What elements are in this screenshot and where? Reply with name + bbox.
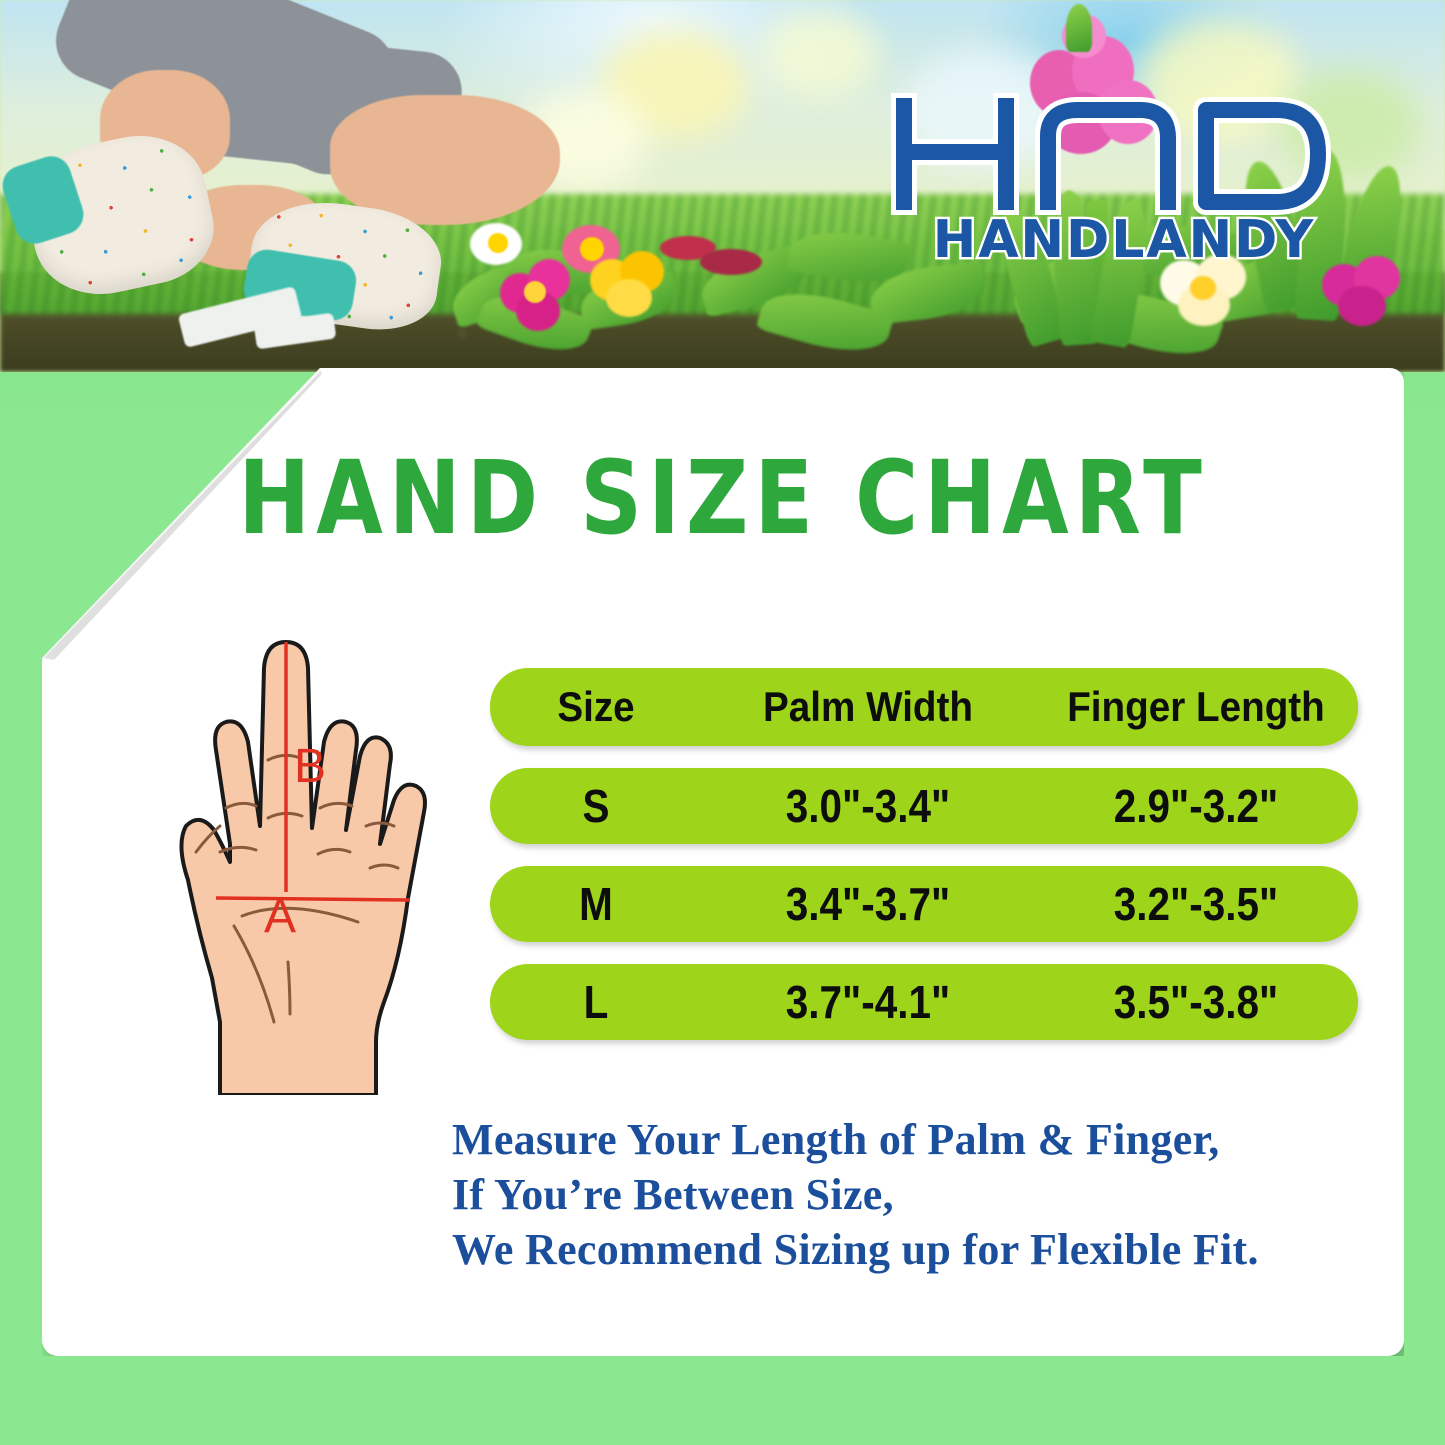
label-b: B (294, 740, 326, 793)
hand-measurement-diagram: B A (108, 630, 488, 1095)
cell-size: S (503, 779, 690, 833)
size-chart-page: HANDLANDY HANDLANDY HAND SIZE CHART (0, 0, 1445, 1445)
table-row: L 3.7"-4.1" 3.5"-3.8" (490, 964, 1358, 1040)
column-header-palm-width: Palm Width (715, 683, 1020, 731)
gardening-photo-banner: HANDLANDY HANDLANDY (0, 0, 1445, 372)
cell-size: M (503, 877, 690, 931)
palm-width-line (216, 898, 410, 900)
cell-finger-length: 3.2"-3.5" (1053, 877, 1338, 931)
hld-monogram-icon (888, 92, 1358, 222)
size-table: Size Palm Width Finger Length S 3.0"-3.4… (490, 668, 1358, 1062)
column-header-size: Size (498, 683, 693, 731)
logo-wordmark: HANDLANDY (890, 210, 1358, 270)
page-title: HAND SIZE CHART (42, 440, 1404, 558)
table-header-row: Size Palm Width Finger Length (490, 668, 1358, 746)
cell-finger-length: 3.5"-3.8" (1053, 975, 1338, 1029)
daisy-flower (470, 215, 526, 271)
forearm-skin (330, 95, 560, 225)
cell-finger-length: 2.9"-3.2" (1053, 779, 1338, 833)
sizing-note-line-3: We Recommend Sizing up for Flexible Fit. (452, 1222, 1352, 1277)
hyacinth-tip-leaf (1066, 4, 1092, 52)
column-header-finger-length: Finger Length (1047, 683, 1345, 731)
cell-palm-width: 3.7"-4.1" (722, 975, 1014, 1029)
cell-size: L (503, 975, 690, 1029)
sizing-note: Measure Your Length of Palm & Finger, If… (452, 1112, 1352, 1277)
red-daisy-flower (700, 245, 766, 285)
table-row: S 3.0"-3.4" 2.9"-3.2" (490, 768, 1358, 844)
sizing-note-line-1: Measure Your Length of Palm & Finger, (452, 1112, 1352, 1167)
cell-palm-width: 3.0"-3.4" (722, 779, 1014, 833)
label-a: A (264, 890, 296, 943)
hand-palm-icon: B A (108, 630, 488, 1095)
yellow-primrose-flower (590, 245, 668, 317)
handlandy-logo: HANDLANDY HANDLANDY (888, 92, 1358, 292)
table-row: M 3.4"-3.7" 3.2"-3.5" (490, 866, 1358, 942)
cell-palm-width: 3.4"-3.7" (722, 877, 1014, 931)
sizing-note-line-2: If You’re Between Size, (452, 1167, 1352, 1222)
bokeh-blob (760, 10, 880, 100)
